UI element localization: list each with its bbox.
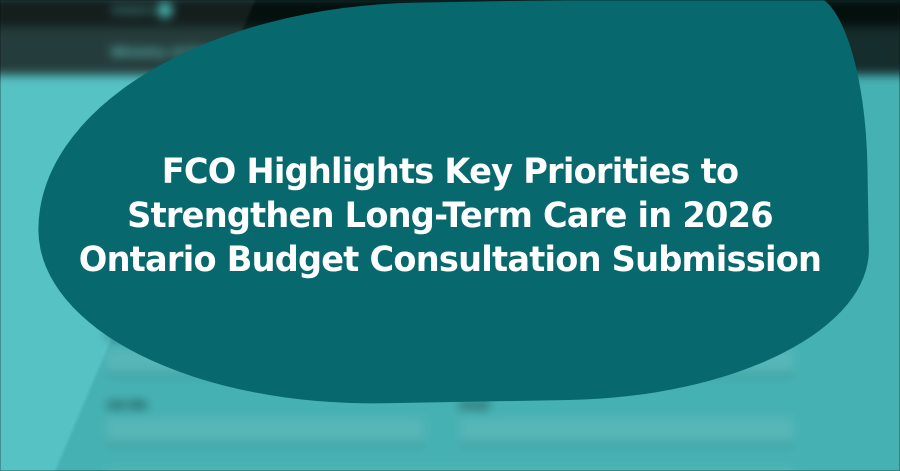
headline-line-1: FCO Highlights Key Priorities to <box>18 150 882 194</box>
field-job-title: Job title <box>106 399 424 445</box>
email-input[interactable] <box>460 418 794 446</box>
overlay-headline: FCO Highlights Key Priorities to Strengt… <box>18 150 882 282</box>
headline-line-2: Strengthen Long-Term Care in 2026 <box>18 194 882 238</box>
ontario-wordmark-text: Ontario <box>111 4 153 16</box>
ontario-wordmark[interactable]: Ontario <box>111 2 172 17</box>
headline-line-3: Ontario Budget Consultation Submission <box>18 238 882 282</box>
trillium-logo-icon <box>157 2 172 17</box>
field-email: Email <box>460 399 794 445</box>
job-title-input[interactable] <box>106 418 424 446</box>
